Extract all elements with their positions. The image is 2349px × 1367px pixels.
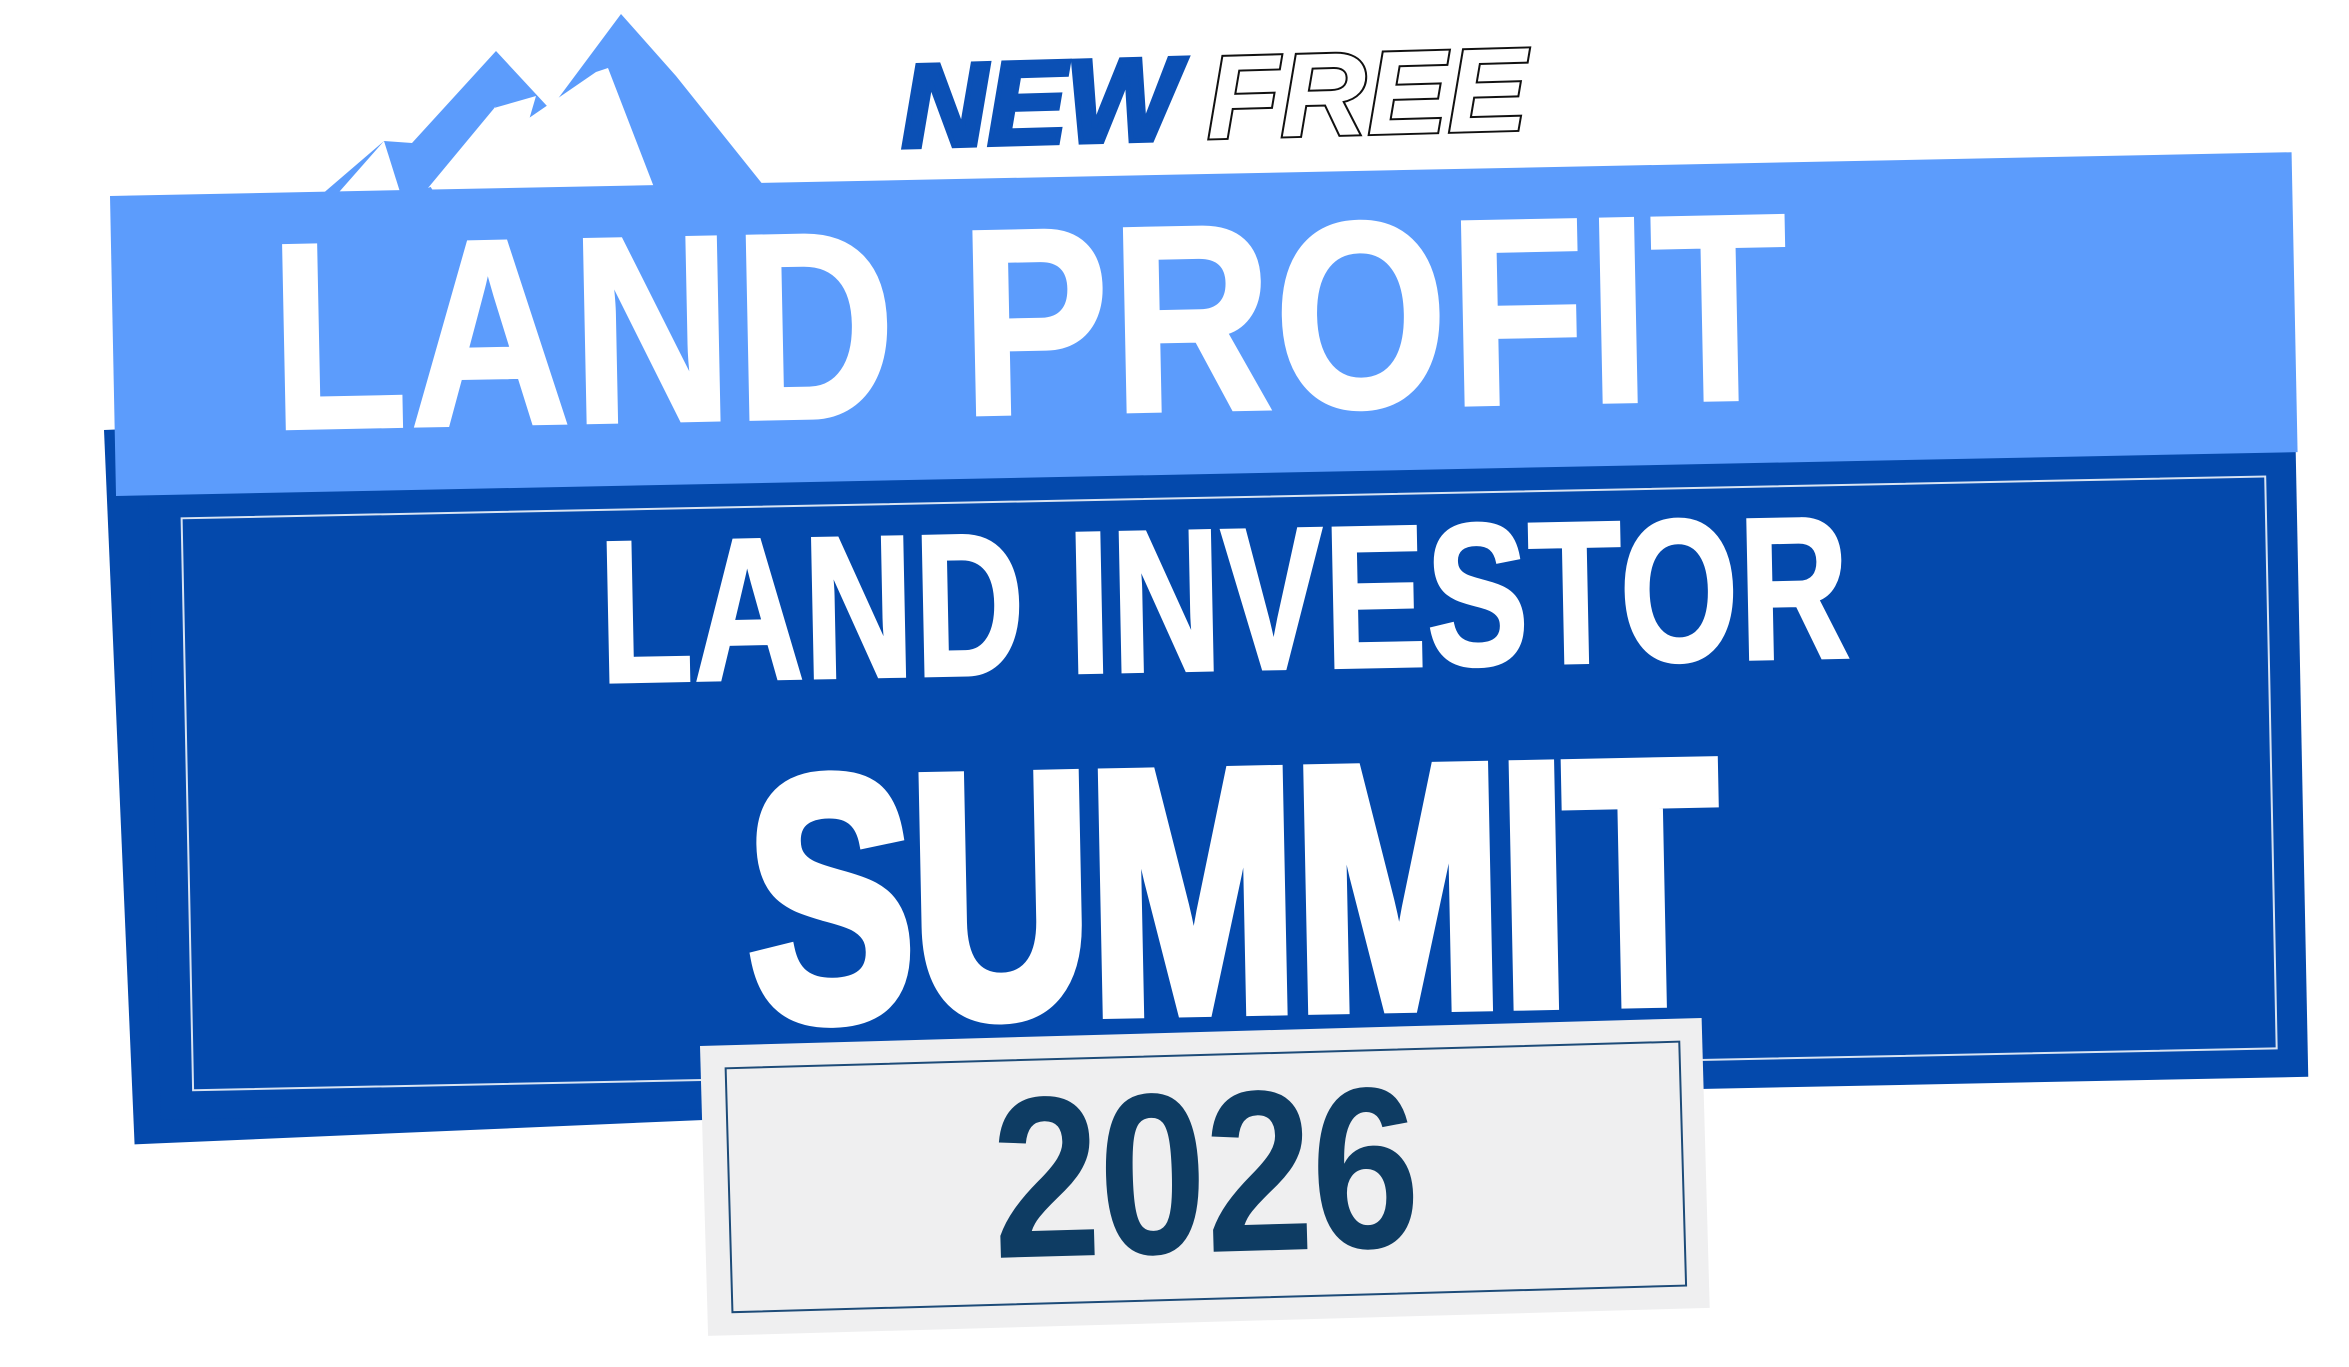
year-badge: 2026	[700, 1018, 1710, 1336]
land-profit-band: LAND PROFIT	[110, 152, 2298, 496]
land-investor-label: LAND INVESTOR	[597, 489, 1851, 712]
kicker-free-label: FREE	[1205, 36, 1529, 153]
land-profit-label: LAND PROFIT	[268, 174, 1792, 470]
summit-text-stack: LAND INVESTOR SUMMIT	[148, 455, 2306, 1038]
eyebrow-kicker: NEW FREE	[901, 5, 1526, 162]
kicker-new-label: NEW	[899, 46, 1180, 162]
land-profit-band-text-wrap: LAND PROFIT	[260, 147, 2266, 487]
year-label: 2026	[725, 1001, 1686, 1352]
logo-canvas: NEW FREE LAND PROFIT LAND INVESTOR SUMMI…	[0, 0, 2349, 1367]
